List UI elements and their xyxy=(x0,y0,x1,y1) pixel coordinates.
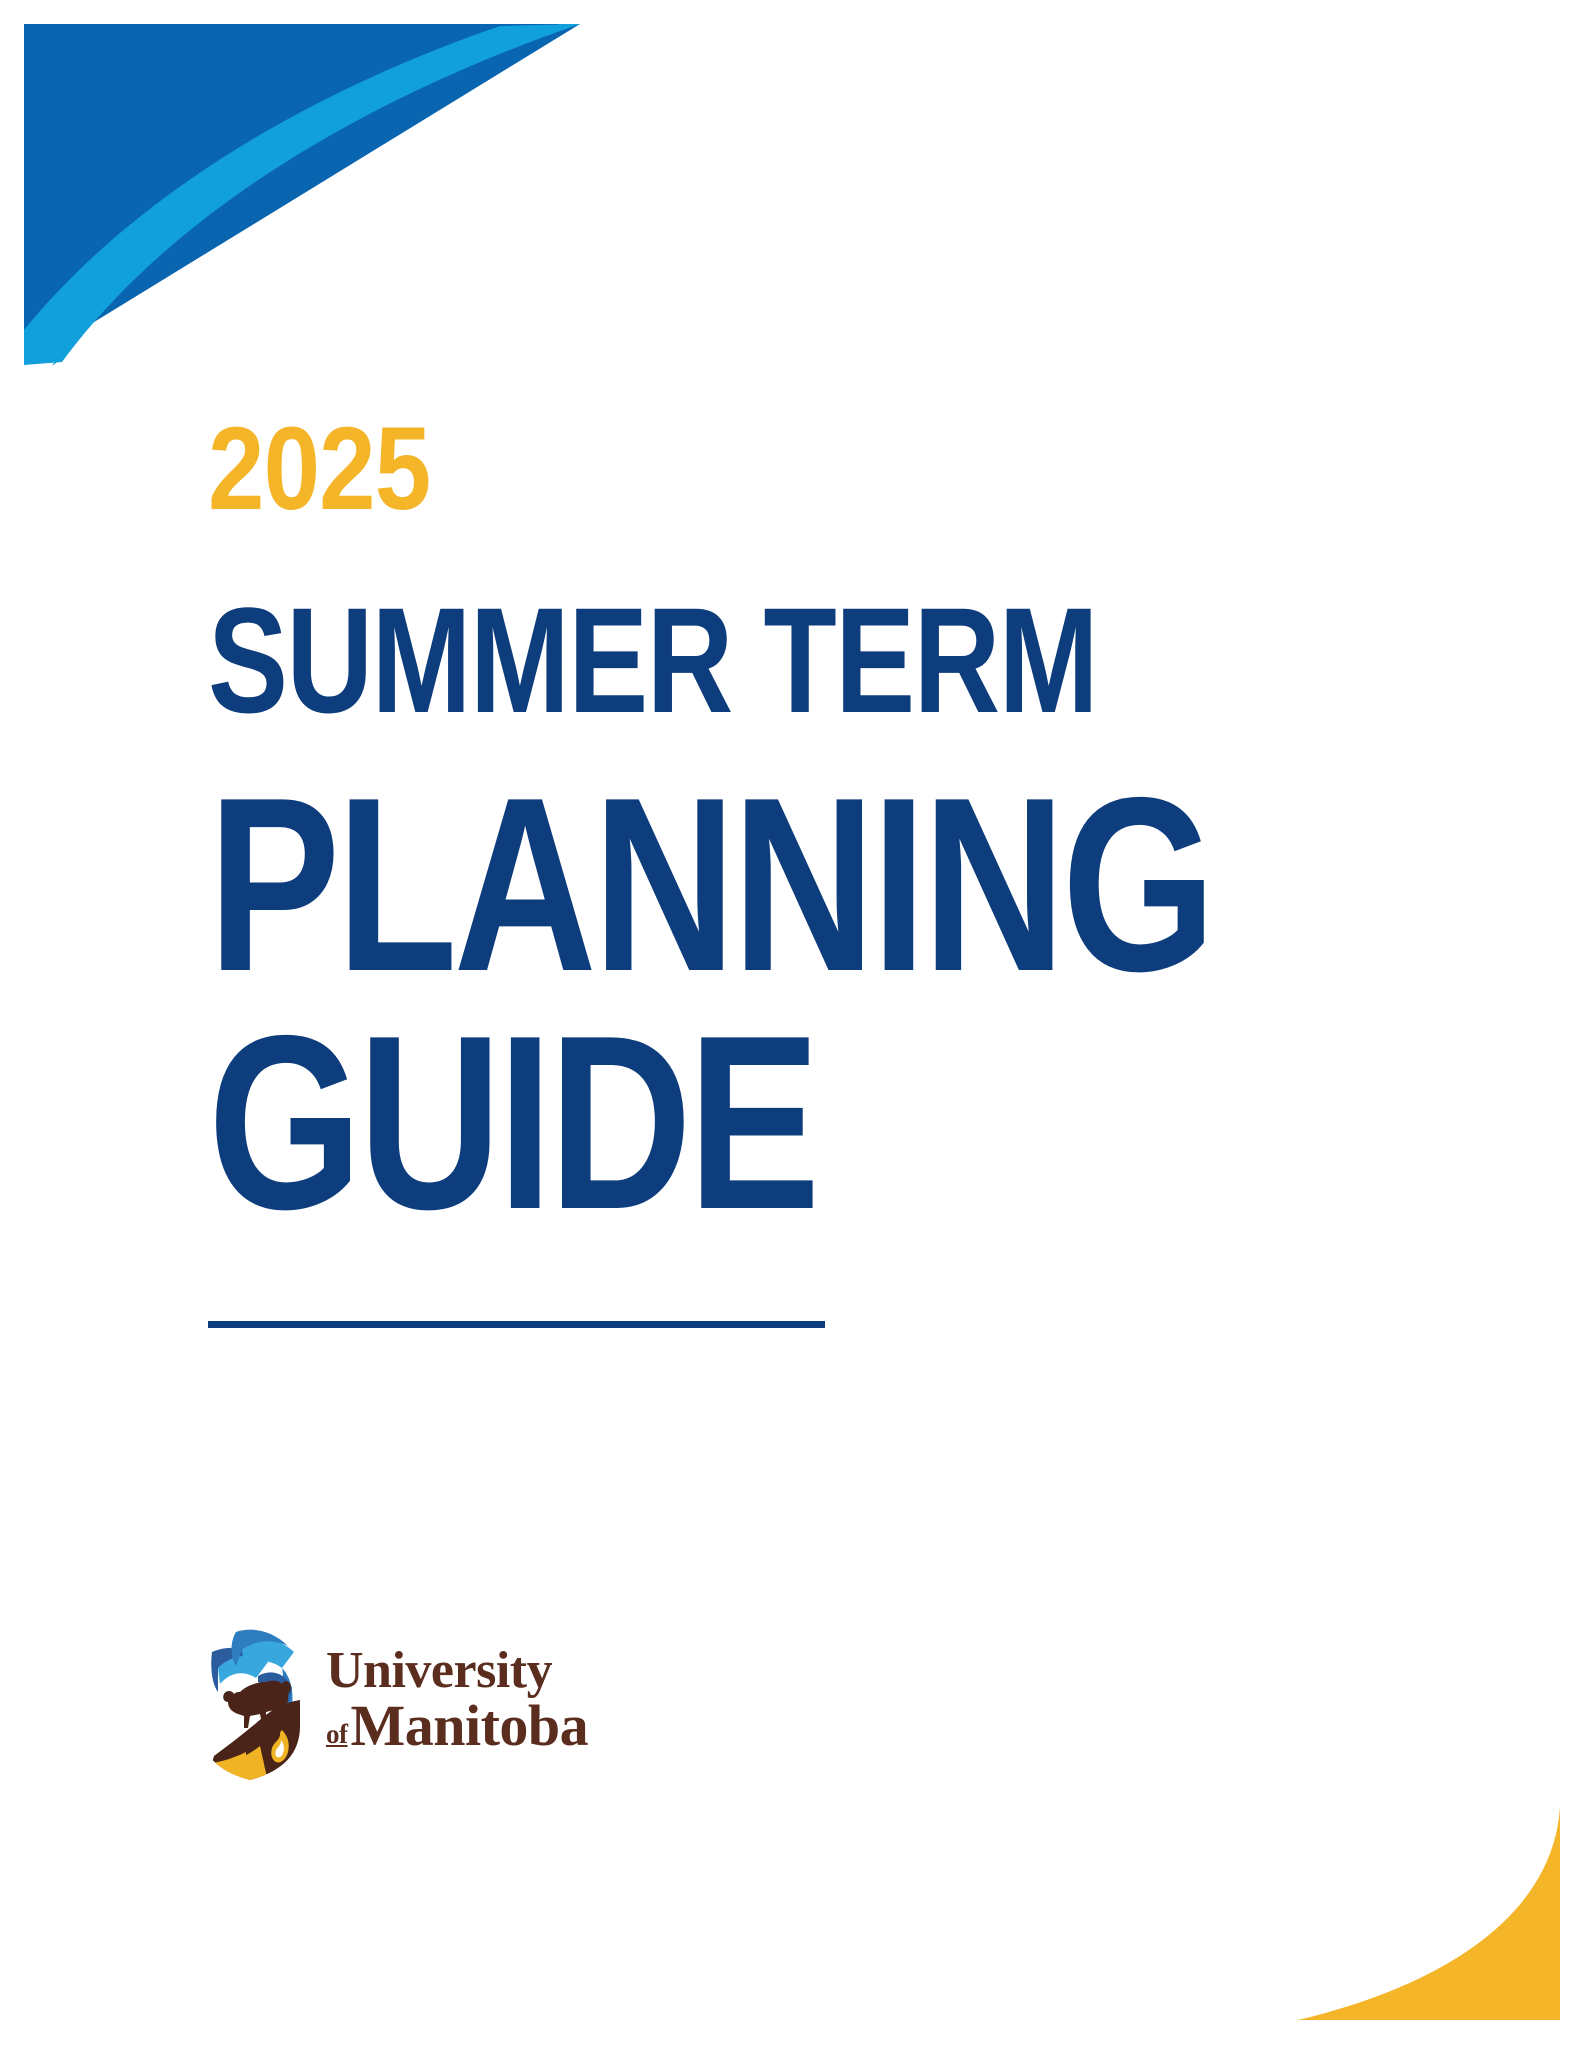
university-wordmark: University ofManitoba xyxy=(326,1645,588,1755)
gold-corner-swoosh xyxy=(1203,1748,1583,2048)
cover-title-line-2: GUIDE xyxy=(208,1003,1088,1241)
cover-subtitle: SUMMER TERM xyxy=(208,588,1088,734)
wordmark-university: University xyxy=(326,1645,588,1697)
wordmark-of: of xyxy=(326,1721,348,1748)
university-logo-lockup: University ofManitoba xyxy=(196,1618,588,1782)
cover-title-line-1: PLANNING xyxy=(208,765,1088,1003)
cover-title-block: 2025 SUMMER TERM PLANNING GUIDE xyxy=(208,418,1308,1328)
blue-corner-swoosh xyxy=(0,0,620,400)
cover-page: 2025 SUMMER TERM PLANNING GUIDE xyxy=(0,0,1583,2048)
wordmark-of-manitoba: ofManitoba xyxy=(326,1697,588,1755)
title-divider-rule xyxy=(208,1321,825,1328)
wordmark-manitoba: Manitoba xyxy=(351,1697,589,1755)
university-of-manitoba-shield-icon xyxy=(196,1618,304,1782)
cover-year: 2025 xyxy=(208,418,1154,522)
